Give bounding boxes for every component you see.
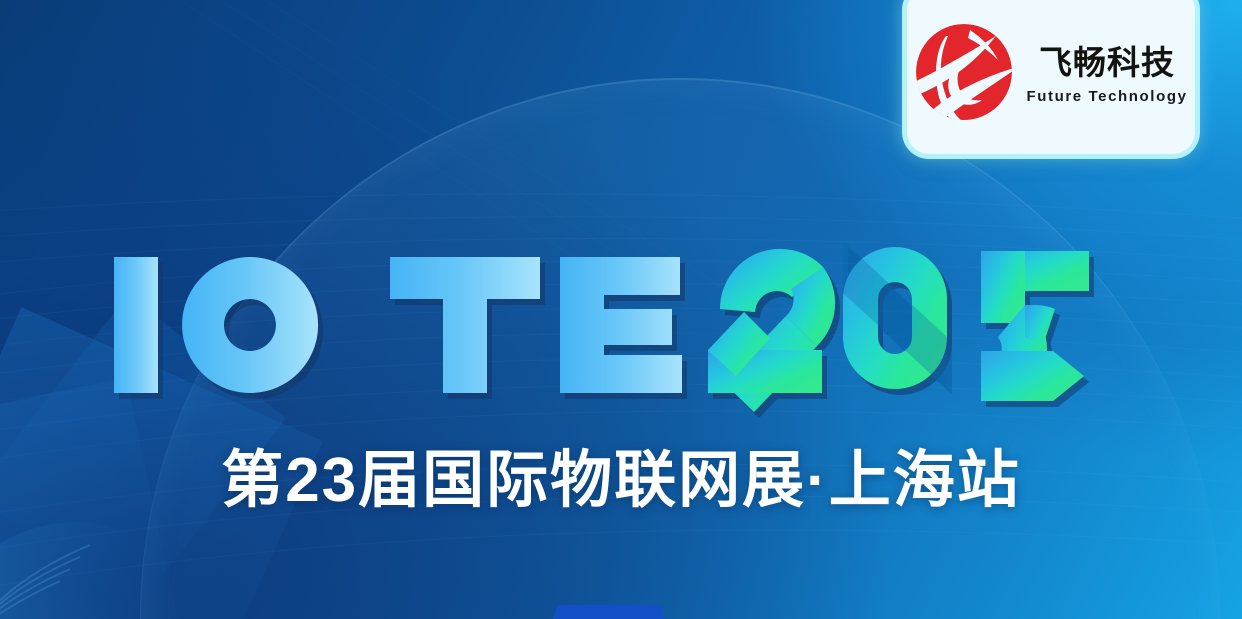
bottom-tab-marker	[553, 605, 665, 619]
wordmark-year	[708, 241, 1089, 412]
event-wordmark	[108, 243, 1098, 393]
logo-text-block: 飞畅科技 Future Technology	[1026, 40, 1187, 105]
wordmark-iote	[114, 257, 682, 393]
sponsor-logo-badge[interactable]: 飞畅科技 Future Technology	[907, 0, 1195, 154]
event-banner: 飞畅科技 Future Technology	[0, 0, 1242, 619]
company-logo-mark-icon	[912, 22, 1016, 122]
company-name-cn: 飞畅科技	[1031, 40, 1183, 84]
company-name-en: Future Technology	[1026, 88, 1187, 105]
svg-text:飞畅科技: 飞畅科技	[1039, 43, 1175, 82]
event-subtitle: 第23届国际物联网展·上海站	[0, 450, 1242, 512]
corner-arc-lines	[0, 505, 190, 619]
